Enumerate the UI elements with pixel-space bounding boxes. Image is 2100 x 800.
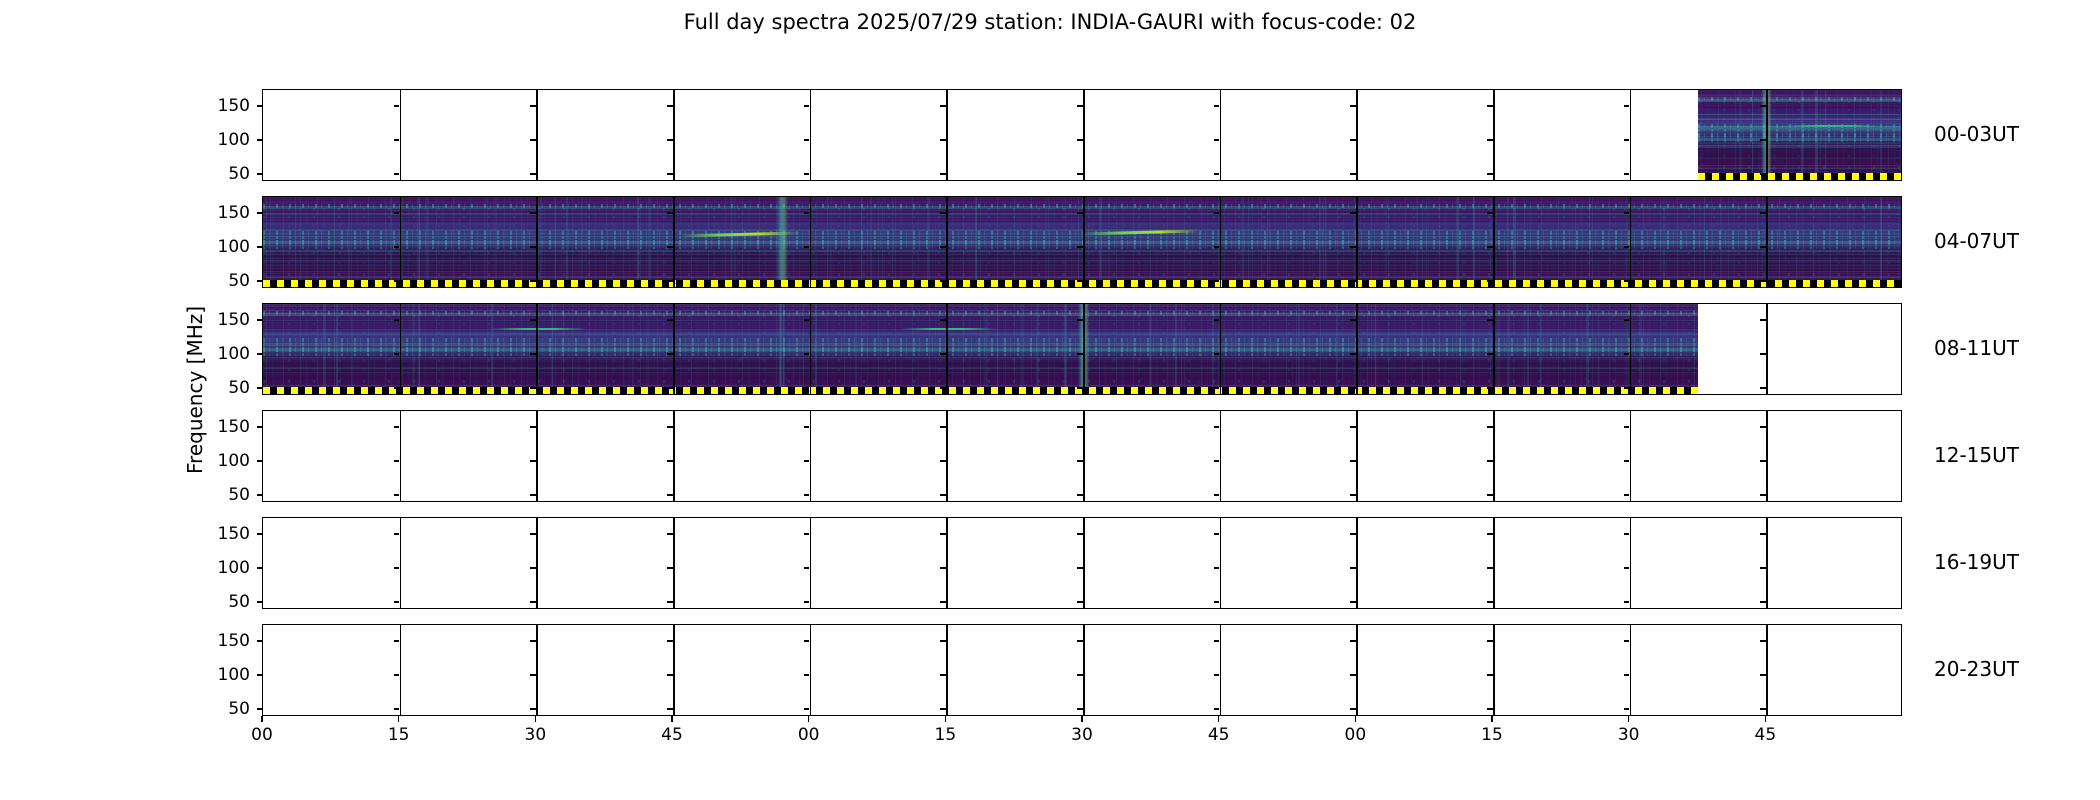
vertical-gridline [1356,625,1358,715]
y-tick-minor [940,533,946,535]
y-tick-minor [1624,426,1630,428]
y-tick-minor [1487,533,1493,535]
vertical-gridline [1493,304,1495,394]
vertical-gridline [1493,90,1495,180]
time-striation [1497,304,1499,394]
vertical-gridline [1356,197,1358,287]
horizontal-band-feature [1698,126,1902,129]
y-tick-minor [940,494,946,496]
y-tick-minor [804,139,810,141]
y-tick-minor [394,353,400,355]
y-tick-minor [1624,533,1630,535]
spectral-texture-line [263,394,1698,395]
time-striation [352,304,353,394]
y-tick-minor [1350,246,1356,248]
emission-band [1698,101,1902,103]
y-tick-minor [804,460,810,462]
spectral-texture-line [1698,114,1902,115]
y-tick-label: 100 [202,558,250,578]
y-tick-minor [1487,246,1493,248]
spectral-texture-line [263,368,1698,369]
y-tick-minor [530,494,536,496]
emission-band [263,343,1698,346]
vertical-gridline [1220,411,1222,501]
time-striation [1752,90,1753,180]
y-tick-minor [1760,173,1766,175]
y-tick-minor [667,387,673,389]
time-striation [554,197,556,287]
y-tick-minor [1214,353,1220,355]
y-tick-minor [1760,387,1766,389]
y-tick-minor [394,708,400,710]
y-tick-minor [667,708,673,710]
spectral-texture-line [1698,145,1902,146]
y-tick-minor [1760,280,1766,282]
y-tick-minor [530,105,536,107]
y-tick-minor [1350,353,1356,355]
y-tick-minor [394,173,400,175]
y-tick-minor [1760,494,1766,496]
time-striation [270,197,271,287]
vertical-gridline [536,518,538,608]
spectral-texture-line [1698,165,1902,166]
vertical-gridline [946,411,948,501]
y-tick-minor [804,426,810,428]
horizontal-band-feature [1698,99,1902,102]
panel-inner [263,304,1901,394]
row-label-12-15ut: 12-15UT [1934,443,2019,467]
spectral-texture-line [1698,158,1902,159]
y-tick-minor [1214,567,1220,569]
spectrogram-panel-20-23ut[interactable] [262,624,1902,716]
y-tick-minor [667,105,673,107]
time-striation [1021,304,1023,394]
y-tick-mark [257,212,263,214]
y-tick-minor [667,460,673,462]
y-tick-minor [1760,139,1766,141]
y-tick-minor [1214,246,1220,248]
horizontal-band-feature [263,348,1698,351]
vertical-gridline [810,625,812,715]
spectral-texture-line [263,344,1698,345]
spectral-texture-line [1698,118,1902,119]
time-striation [1298,304,1300,394]
y-tick-minor [1624,212,1630,214]
spectral-texture-line [263,384,1698,385]
y-tick-mark [257,387,263,389]
emission-band [1698,145,1902,147]
emission-band [1698,124,1902,128]
emission-band [1698,155,1902,157]
emission-band [1698,133,1902,138]
time-striation [976,197,977,287]
y-tick-minor [940,708,946,710]
vertical-gridline [810,197,812,287]
y-tick-minor [667,173,673,175]
y-tick-mark [257,426,263,428]
y-tick-minor [1624,640,1630,642]
spectral-texture-line [263,313,1698,314]
page-title: Full day spectra 2025/07/29 station: IND… [0,10,2100,34]
spectral-texture-line [263,354,1698,355]
time-striation [323,304,324,394]
y-tick-minor [1214,139,1220,141]
y-tick-minor [1077,460,1083,462]
x-tick-label: 00 [789,725,829,745]
vertical-gridline [1766,518,1768,608]
y-tick-minor [804,674,810,676]
x-tick-label: 30 [1062,725,1102,745]
y-tick-minor [1350,494,1356,496]
emission-band [263,347,1698,352]
y-tick-minor [1760,426,1766,428]
y-tick-minor [1077,601,1083,603]
panel-inner [263,518,1901,608]
time-striation [1663,197,1665,287]
y-tick-minor [1214,319,1220,321]
y-tick-minor [1350,212,1356,214]
vertical-gridline [1766,411,1768,501]
y-tick-minor [804,387,810,389]
panel-inner [263,90,1901,180]
spectral-texture-line [1698,129,1902,130]
time-striation [730,197,733,287]
y-tick-minor [530,567,536,569]
time-striation [563,304,564,394]
y-tick-minor [1624,708,1630,710]
y-tick-minor [530,319,536,321]
spectrogram-panel-16-19ut[interactable] [262,517,1902,609]
spectral-texture-line [263,332,1698,333]
vertical-gridline [673,304,675,394]
vertical-gridline [946,518,948,608]
spectral-texture-line [263,355,1698,356]
y-tick-minor [940,280,946,282]
y-tick-mark [257,494,263,496]
y-tick-label: 50 [202,485,250,505]
y-tick-minor [1077,708,1083,710]
spectral-texture-line [263,385,1698,386]
drifting-emission-line [679,232,799,238]
time-striation [815,304,817,394]
emission-band [1698,166,1902,169]
x-tick-mark [1628,716,1630,722]
y-tick-minor [530,387,536,389]
spectral-texture-line [1698,98,1902,99]
spectral-texture-line [263,367,1698,368]
vertical-gridline [1766,197,1768,287]
time-striation [1586,304,1588,394]
y-tick-mark [257,533,263,535]
y-tick-minor [1624,601,1630,603]
y-tick-minor [1760,319,1766,321]
y-tick-minor [530,139,536,141]
y-tick-minor [394,246,400,248]
vertical-gridline [1630,90,1632,180]
time-striation [734,197,736,287]
x-tick-mark [945,716,947,722]
y-tick-minor [1350,426,1356,428]
x-tick-mark [808,716,810,722]
time-striation [509,197,511,287]
y-tick-minor [1760,353,1766,355]
time-striation [1704,197,1706,287]
y-tick-mark [257,319,263,321]
spectral-texture-line [1698,121,1902,122]
y-tick-minor [1487,319,1493,321]
y-tick-minor [804,280,810,282]
y-tick-minor [804,353,810,355]
y-tick-minor [804,494,810,496]
vertical-gridline [400,411,402,501]
y-tick-label: 50 [202,271,250,291]
spectrogram-panel-08-11ut[interactable] [262,303,1902,395]
y-tick-minor [530,533,536,535]
narrowband-line-feature [491,328,586,331]
emission-band [1698,118,1902,120]
y-tick-minor [940,640,946,642]
spectral-texture-line [263,338,1698,339]
y-tick-mark [257,353,263,355]
y-tick-minor [1077,353,1083,355]
panel-inner [263,625,1901,715]
y-tick-minor [1214,708,1220,710]
y-tick-minor [394,494,400,496]
time-striation [1242,197,1245,287]
vertical-gridline [673,90,675,180]
vertical-gridline [400,518,402,608]
y-tick-minor [1077,173,1083,175]
vertical-gridline [400,197,402,287]
y-tick-minor [394,139,400,141]
time-striation [632,304,634,394]
time-striation [1507,197,1510,287]
y-tick-label: 150 [202,96,250,116]
y-tick-mark [257,640,263,642]
time-striation [654,304,655,394]
y-tick-minor [1214,212,1220,214]
y-tick-minor [1214,426,1220,428]
time-striation [1100,197,1102,287]
time-striation [1261,197,1262,287]
y-tick-minor [1487,280,1493,282]
y-tick-minor [1624,246,1630,248]
y-tick-minor [1760,460,1766,462]
y-tick-minor [1487,601,1493,603]
y-tick-minor [394,533,400,535]
spectral-texture-line [263,361,1698,362]
y-tick-minor [1624,567,1630,569]
spectrogram-panel-04-07ut[interactable] [262,196,1902,288]
y-tick-minor [1487,173,1493,175]
y-tick-label: 50 [202,378,250,398]
y-tick-minor [1350,105,1356,107]
spectral-texture-line [263,334,1698,335]
y-tick-minor [1214,533,1220,535]
time-striation [1212,304,1214,394]
vertical-gridline [536,197,538,287]
time-striation [1283,197,1284,287]
spectral-texture-line [1698,163,1902,164]
x-tick-mark [1491,716,1493,722]
y-tick-minor [1077,674,1083,676]
y-tick-minor [394,567,400,569]
y-tick-minor [1214,460,1220,462]
spectral-texture-line [263,306,1698,307]
time-striation [1508,304,1510,394]
time-striation [637,197,639,287]
vertical-gridline [946,197,948,287]
y-tick-mark [257,173,263,175]
row-label-00-03ut: 00-03UT [1934,122,2019,146]
y-tick-minor [940,426,946,428]
spectral-texture-line [1698,128,1902,129]
y-tick-minor [940,246,946,248]
y-tick-label: 150 [202,631,250,651]
time-striation [566,197,568,287]
y-tick-minor [667,139,673,141]
emission-band [263,323,1698,325]
x-tick-label: 45 [1745,725,1785,745]
time-striation [1385,197,1387,287]
time-striation [1045,197,1047,287]
y-tick-minor [940,601,946,603]
y-tick-minor [804,567,810,569]
time-striation [975,197,977,287]
time-striation [777,197,778,287]
spectral-texture-line [263,320,1698,321]
vertical-gridline [673,518,675,608]
x-tick-label: 00 [242,725,282,745]
y-tick-minor [940,319,946,321]
vertical-gridline [1493,197,1495,287]
y-tick-minor [1077,640,1083,642]
x-tick-label: 45 [652,725,692,745]
y-tick-minor [530,640,536,642]
x-tick-mark [398,716,400,722]
y-tick-minor [667,674,673,676]
spectral-texture-line [1698,142,1902,143]
row-label-20-23ut: 20-23UT [1934,657,2019,681]
time-striation [1801,90,1803,180]
time-striation [491,304,494,394]
x-tick-label: 30 [515,725,555,745]
spectral-texture-line [263,352,1698,353]
spectrogram-image [1698,90,1902,180]
vertical-gridline [1630,197,1632,287]
spectral-texture-line [1698,168,1902,169]
time-striation [551,304,553,394]
vertical-gridline [946,90,948,180]
time-striation [1421,304,1423,394]
y-tick-minor [804,319,810,321]
spectral-texture-line [263,312,1698,313]
y-tick-minor [1487,708,1493,710]
spectral-texture-line [1698,114,1902,115]
spectral-texture-line [263,313,1698,314]
time-striation [1375,304,1376,394]
vertical-gridline [1220,518,1222,608]
time-striation [1296,304,1298,394]
x-tick-label: 15 [925,725,965,745]
time-striation [1036,304,1039,394]
y-tick-minor [530,173,536,175]
spectrogram-panel-12-15ut[interactable] [262,410,1902,502]
y-tick-minor [1077,533,1083,535]
spectrogram-panel-00-03ut[interactable] [262,89,1902,181]
time-striation [892,197,893,287]
x-tick-label: 15 [379,725,419,745]
time-striation [984,304,985,394]
time-striation [1426,197,1427,287]
emission-band [1698,109,1902,111]
spectral-texture-line [1698,136,1902,137]
narrowband-line-feature [901,328,996,331]
time-striation [1733,197,1735,287]
y-tick-minor [940,139,946,141]
y-tick-minor [804,246,810,248]
time-striation [1267,197,1268,287]
y-tick-minor [1487,460,1493,462]
y-tick-minor [804,105,810,107]
spectral-texture-line [1698,167,1902,168]
time-striation [1815,90,1818,180]
vertical-gridline [1356,518,1358,608]
y-tick-minor [1077,426,1083,428]
y-tick-minor [1214,674,1220,676]
time-striation [1598,304,1599,394]
y-tick-minor [1350,387,1356,389]
y-tick-mark [257,105,263,107]
time-striation [495,197,497,287]
time-striation [647,304,649,394]
y-tick-minor [940,387,946,389]
vertical-gridline [1630,304,1632,394]
vertical-gridline [1356,304,1358,394]
spectral-texture-line [1698,143,1902,144]
time-striation [648,197,651,287]
y-tick-minor [1487,426,1493,428]
vertical-gridline [946,304,948,394]
y-tick-minor [1624,387,1630,389]
y-tick-minor [1350,640,1356,642]
spectrogram-image [263,304,1698,394]
time-striation [861,197,862,287]
spectral-texture-line [1698,123,1902,124]
spectral-texture-line [263,315,1698,316]
vertical-gridline [673,625,675,715]
emission-band [1698,97,1902,101]
vertical-gridline [1083,90,1085,180]
x-tick-label: 30 [1609,725,1649,745]
spectral-texture-line [1698,146,1902,147]
spectral-texture-line [263,304,1698,305]
y-tick-minor [1077,212,1083,214]
y-tick-minor [394,280,400,282]
spectral-texture-line [1698,157,1902,158]
y-tick-minor [1214,173,1220,175]
emission-band [1698,139,1902,142]
y-tick-minor [530,708,536,710]
y-tick-minor [1350,567,1356,569]
time-striation [1540,304,1542,394]
y-tick-minor [940,105,946,107]
time-striation [1900,90,1901,180]
data-flag-strip [263,387,1698,394]
time-striation [855,304,857,394]
spectral-texture-line [263,305,1698,306]
y-tick-minor [1077,319,1083,321]
